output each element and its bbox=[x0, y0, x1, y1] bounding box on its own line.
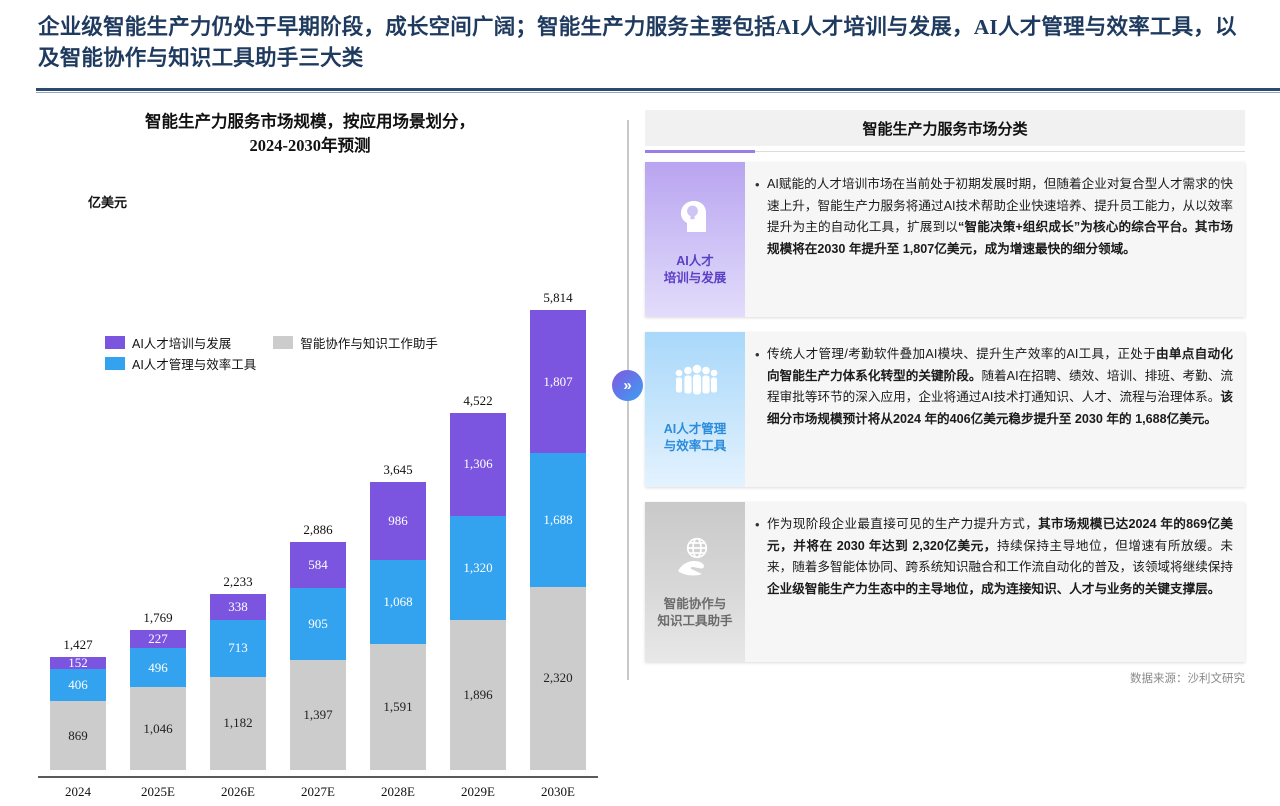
bar-group: 4,5221,3061,3201,896 bbox=[450, 413, 506, 770]
bar-segment: 584 bbox=[290, 542, 346, 588]
bullet-point: • bbox=[755, 344, 767, 475]
bar-segment: 2,320 bbox=[530, 587, 586, 770]
title-divider bbox=[36, 88, 1280, 91]
bar-total-label: 1,427 bbox=[50, 637, 106, 653]
tile-label-line1: AI人才管理 bbox=[664, 422, 727, 436]
bar-total-label: 2,886 bbox=[290, 522, 346, 538]
tile-label-line1: 智能协作与 bbox=[664, 597, 727, 611]
card-text: AI赋能的人才培训市场在当前处于初期发展时期，但随着企业对复合型人才需求的快速上… bbox=[767, 174, 1233, 305]
chart-y-unit-label: 亿美元 bbox=[88, 192, 127, 211]
people-group-icon bbox=[671, 364, 719, 409]
tile-label-line1: AI人才 bbox=[676, 254, 714, 268]
bar-segment: 1,688 bbox=[530, 453, 586, 586]
head-lightbulb-icon bbox=[673, 192, 717, 241]
bar-segment: 1,320 bbox=[450, 516, 506, 620]
bullet-point: • bbox=[755, 174, 767, 305]
card-text-plain: 传统人才管理/考勤软件叠加AI模块、提升生产效率的AI工具，正处于 bbox=[767, 347, 1156, 361]
bar-group: 1,7692274961,046 bbox=[130, 630, 186, 770]
category-card-ai-talent-management[interactable]: AI人才管理 与效率工具 • 传统人才管理/考勤软件叠加AI模块、提升生产效率的… bbox=[645, 332, 1245, 487]
card-text-bold-2: 企业级智能生产力生态中的主导地位，成为连接知识、人才与业务的关键支撑层。 bbox=[767, 582, 1220, 596]
tile-label-line2: 知识工具助手 bbox=[657, 614, 732, 628]
title-divider-thin bbox=[36, 92, 1280, 93]
panel-header-rule bbox=[755, 151, 1245, 152]
bar-segment: 986 bbox=[370, 482, 426, 560]
bar-group: 2,2333387131,182 bbox=[210, 594, 266, 770]
card-body: • 传统人才管理/考勤软件叠加AI模块、提升生产效率的AI工具，正处于由单点自动… bbox=[745, 332, 1245, 487]
card-text: 作为现阶段企业最直接可见的生产力提升方式，其市场规模已达2024 年的869亿美… bbox=[767, 514, 1233, 650]
bar-segment: 713 bbox=[210, 620, 266, 676]
x-axis-label: 2027E bbox=[290, 784, 346, 800]
card-tile-label: AI人才管理 与效率工具 bbox=[664, 421, 727, 455]
card-body: • AI赋能的人才培训市场在当前处于初期发展时期，但随着企业对复合型人才需求的快… bbox=[745, 162, 1245, 317]
bar-group: 2,8865849051,397 bbox=[290, 542, 346, 770]
card-text-plain: 作为现阶段企业最直接可见的生产力提升方式， bbox=[767, 517, 1038, 531]
bar-segment: 338 bbox=[210, 594, 266, 621]
bar-segment: 1,182 bbox=[210, 677, 266, 770]
panel-header-accent bbox=[645, 150, 755, 153]
card-body: • 作为现阶段企业最直接可见的生产力提升方式，其市场规模已达2024 年的869… bbox=[745, 502, 1245, 662]
card-text: 传统人才管理/考勤软件叠加AI模块、提升生产效率的AI工具，正处于由单点自动化向… bbox=[767, 344, 1233, 475]
x-axis-label: 2026E bbox=[210, 784, 266, 800]
bar-segment: 406 bbox=[50, 669, 106, 701]
bar-segment: 905 bbox=[290, 588, 346, 660]
bar-segment: 1,046 bbox=[130, 687, 186, 770]
bar-total-label: 4,522 bbox=[450, 393, 506, 409]
chart-panel: 智能生产力服务市场规模，按应用场景划分， 2024-2030年预测 亿美元 AI… bbox=[0, 100, 620, 720]
bullet-point: • bbox=[755, 514, 767, 650]
chart-title-line2: 2024-2030年预测 bbox=[40, 134, 580, 158]
hand-globe-icon bbox=[672, 535, 718, 584]
bar-segment: 1,591 bbox=[370, 644, 426, 770]
x-axis-label: 2025E bbox=[130, 784, 186, 800]
card-tile-ai-talent-training: AI人才 培训与发展 bbox=[645, 162, 745, 317]
bar-total-label: 2,233 bbox=[210, 574, 266, 590]
chart-title: 智能生产力服务市场规模，按应用场景划分， 2024-2030年预测 bbox=[40, 110, 580, 158]
x-axis-label: 2024 bbox=[50, 784, 106, 800]
x-axis-label: 2030E bbox=[530, 784, 586, 800]
bar-segment: 496 bbox=[130, 648, 186, 687]
bar-total-label: 3,645 bbox=[370, 462, 426, 478]
bar-segment: 1,807 bbox=[530, 310, 586, 453]
bar-segment: 152 bbox=[50, 657, 106, 669]
bar-segment: 1,397 bbox=[290, 660, 346, 770]
tile-label-line2: 培训与发展 bbox=[664, 271, 727, 285]
bar-total-label: 5,814 bbox=[530, 290, 586, 306]
bar-segment: 227 bbox=[130, 630, 186, 648]
category-card-knowledge-assistant[interactable]: 智能协作与 知识工具助手 • 作为现阶段企业最直接可见的生产力提升方式，其市场规… bbox=[645, 502, 1245, 662]
bar-segment: 1,306 bbox=[450, 413, 506, 516]
bar-total-label: 1,769 bbox=[130, 610, 186, 626]
bar-group: 3,6459861,0681,591 bbox=[370, 482, 426, 770]
page-title: 企业级智能生产力仍处于早期阶段，成长空间广阔；智能生产力服务主要包括AI人才培训… bbox=[38, 12, 1242, 74]
card-tile-knowledge-assistant: 智能协作与 知识工具助手 bbox=[645, 502, 745, 662]
chevron-right-badge-icon: » bbox=[612, 370, 643, 401]
tile-label-line2: 与效率工具 bbox=[664, 439, 727, 453]
card-tile-label: 智能协作与 知识工具助手 bbox=[657, 596, 732, 630]
bar-segment: 1,068 bbox=[370, 560, 426, 644]
bar-segment: 869 bbox=[50, 701, 106, 770]
x-axis-label: 2029E bbox=[450, 784, 506, 800]
bar-segment: 1,896 bbox=[450, 620, 506, 770]
bar-group: 5,8141,8071,6882,320 bbox=[530, 310, 586, 770]
card-tile-ai-talent-management: AI人才管理 与效率工具 bbox=[645, 332, 745, 487]
panel-header: 智能生产力服务市场分类 bbox=[645, 110, 1245, 146]
category-panel: 智能生产力服务市场分类 AI人才 培训与发展 bbox=[645, 110, 1245, 146]
data-source-note: 数据来源：沙利文研究 bbox=[645, 670, 1245, 686]
bar-group: 1,427152406869 bbox=[50, 657, 106, 770]
card-tile-label: AI人才 培训与发展 bbox=[664, 253, 727, 287]
chart-title-line1: 智能生产力服务市场规模，按应用场景划分， bbox=[40, 110, 580, 134]
chart-plot-area: 1,4271524068691,7692274961,0462,23333871… bbox=[38, 280, 598, 770]
slide-title-block: 企业级智能生产力仍处于早期阶段，成长空间广阔；智能生产力服务主要包括AI人才培训… bbox=[0, 0, 1280, 88]
chart-x-axis-labels: 20242025E2026E2027E2028E2029E2030E bbox=[38, 780, 598, 806]
category-card-ai-talent-training[interactable]: AI人才 培训与发展 • AI赋能的人才培训市场在当前处于初期发展时期，但随着企… bbox=[645, 162, 1245, 317]
chart-x-axis-line bbox=[38, 776, 598, 778]
x-axis-label: 2028E bbox=[370, 784, 426, 800]
